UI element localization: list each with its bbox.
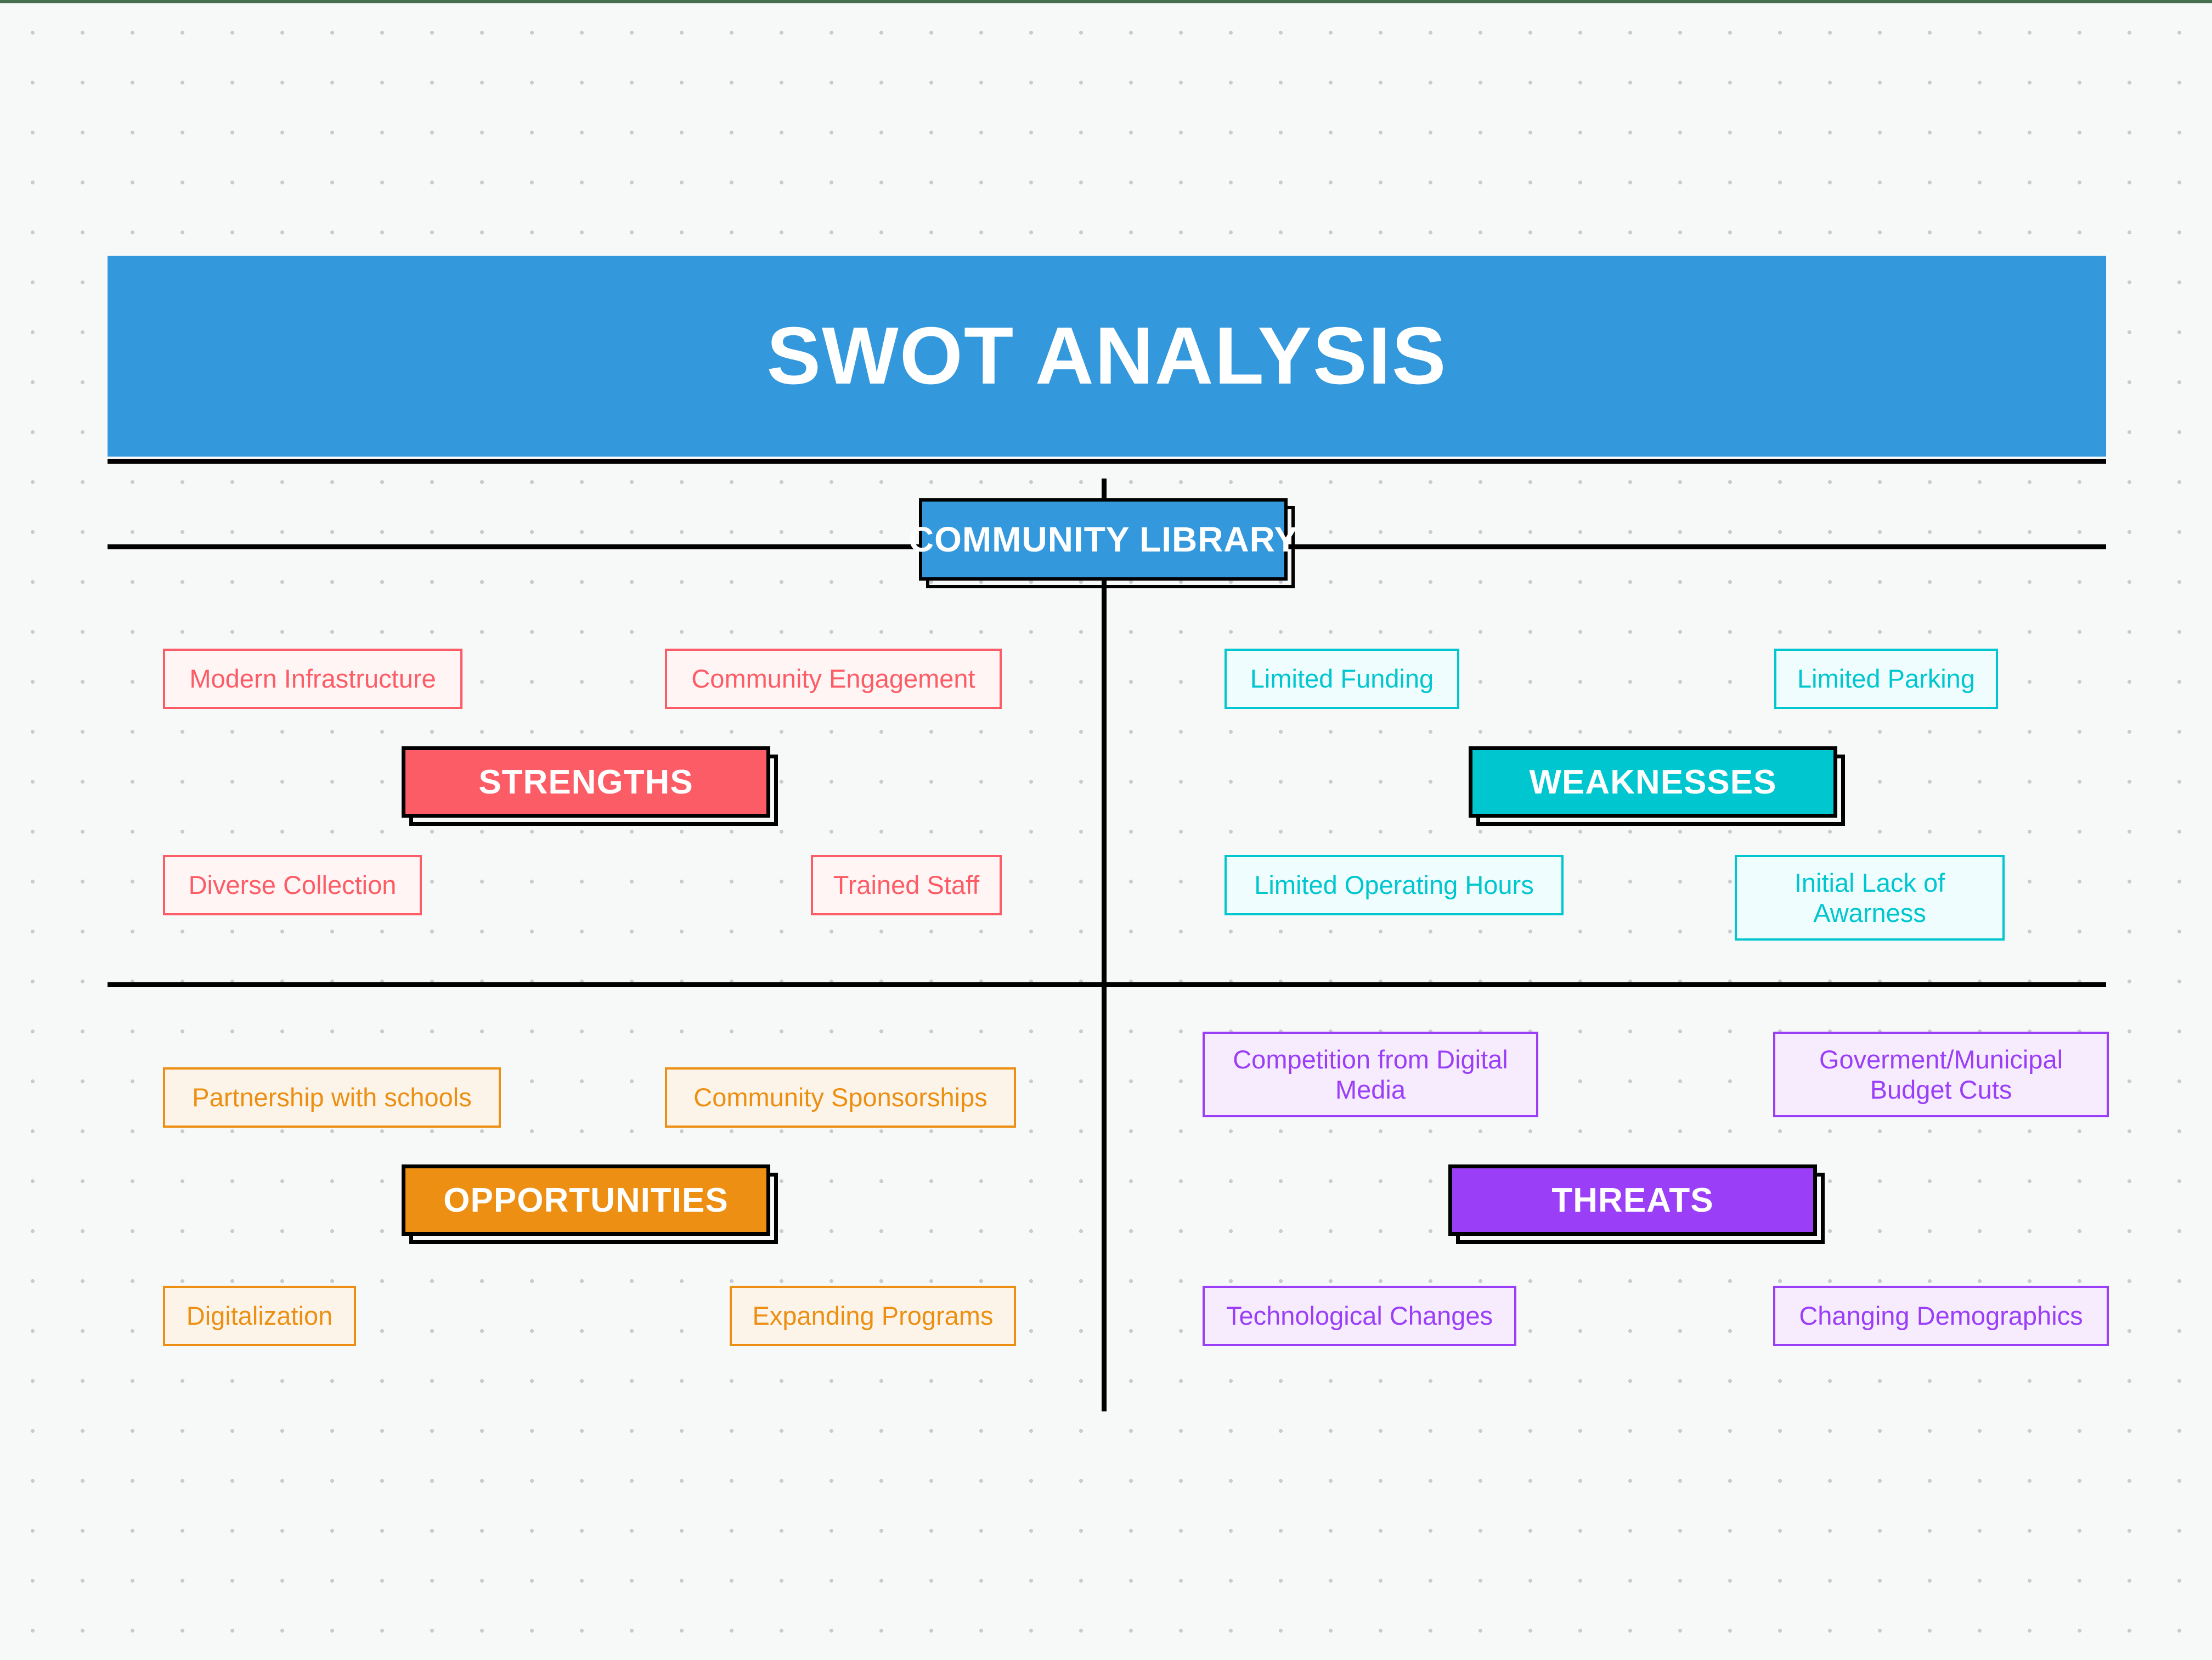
center-node-face: COMMUNITY LIBRARY [919,498,1288,581]
quadrant-label-strengths[interactable]: STRENGTHS [402,746,770,818]
title-underline-rule [108,459,2106,464]
item-weakness-3[interactable]: Limited Operating Hours [1224,855,1564,915]
item-threat-3[interactable]: Technological Changes [1203,1286,1516,1346]
quadrant-label-text: STRENGTHS [478,763,693,802]
item-threat-4[interactable]: Changing Demographics [1773,1286,2109,1346]
item-opportunity-1[interactable]: Partnership with schools [163,1067,501,1128]
quadrant-divider-middle [108,982,2106,987]
quadrant-label-threats[interactable]: THREATS [1448,1164,1817,1236]
quadrant-label-text: OPPORTUNITIES [443,1181,728,1220]
item-opportunity-3[interactable]: Digitalization [163,1286,356,1346]
page-title: SWOT ANALYSIS [766,316,1447,397]
quadrant-label-text: THREATS [1551,1181,1713,1220]
quadrant-divider-vertical [1102,479,1107,1411]
item-weakness-4[interactable]: Initial Lack of Awarness [1735,855,2005,941]
diagram-canvas: SWOT ANALYSIS COMMUNITY LIBRARY STRENGTH… [0,0,2212,1660]
item-threat-2[interactable]: Goverment/Municipal Budget Cuts [1773,1032,2109,1117]
quadrant-label-text: WEAKNESSES [1530,763,1777,802]
top-accent-bar [0,0,2212,3]
diagram-title-bar: SWOT ANALYSIS [108,256,2106,457]
quadrant-label-opportunities[interactable]: OPPORTUNITIES [402,1164,770,1236]
item-strength-1[interactable]: Modern Infrastructure [163,649,462,709]
center-node-label: COMMUNITY LIBRARY [909,519,1298,560]
quadrant-label-face: OPPORTUNITIES [402,1164,770,1236]
item-weakness-1[interactable]: Limited Funding [1224,649,1459,709]
item-opportunity-4[interactable]: Expanding Programs [730,1286,1016,1346]
item-strength-3[interactable]: Diverse Collection [163,855,422,915]
quadrant-label-face: STRENGTHS [402,746,770,818]
item-strength-2[interactable]: Community Engagement [665,649,1002,709]
item-strength-4[interactable]: Trained Staff [811,855,1002,915]
quadrant-label-face: THREATS [1448,1164,1817,1236]
quadrant-label-face: WEAKNESSES [1469,746,1837,818]
quadrant-label-weaknesses[interactable]: WEAKNESSES [1469,746,1837,818]
item-threat-1[interactable]: Competition from Digital Media [1203,1032,1538,1117]
item-opportunity-2[interactable]: Community Sponsorships [665,1067,1016,1128]
item-weakness-2[interactable]: Limited Parking [1774,649,1998,709]
center-node[interactable]: COMMUNITY LIBRARY [919,498,1288,581]
